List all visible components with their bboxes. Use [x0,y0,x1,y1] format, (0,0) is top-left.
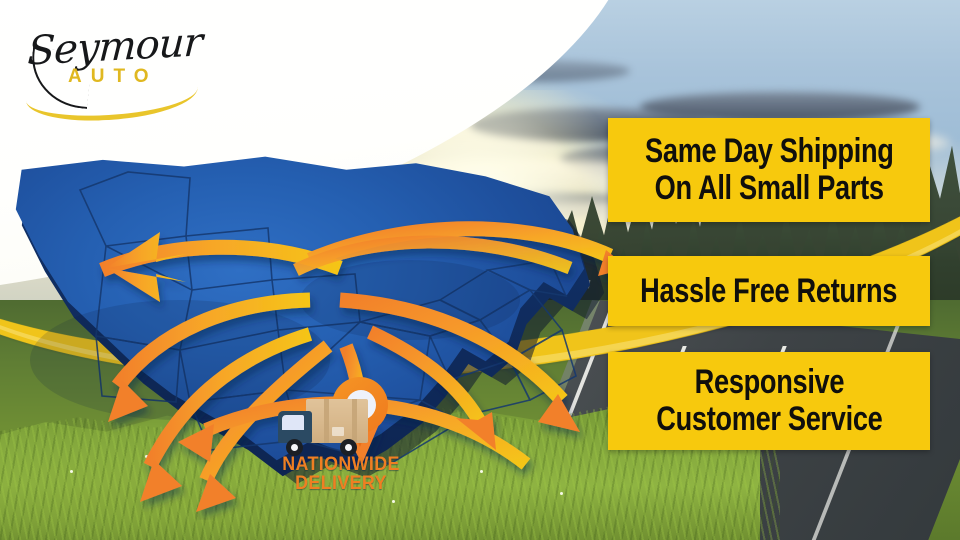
callout-same-day-shipping[interactable]: Same Day Shipping On All Small Parts [608,118,930,222]
delivery-icon-group: NATIONWIDE DELIVERY [270,375,410,505]
box-tape [352,399,357,443]
nationwide-line-1: NATIONWIDE [272,455,409,474]
truck-window [282,415,304,430]
callout-line: Customer Service [656,401,882,438]
callout-line: Same Day Shipping [645,133,893,170]
box-shipping-label [332,427,344,436]
callout-hassle-free-returns[interactable]: Hassle Free Returns [608,256,930,326]
callout-line: Hassle Free Returns [641,273,898,310]
callout-line: On All Small Parts [654,170,883,207]
nationwide-line-2: DELIVERY [272,474,409,493]
promo-banner: Seymour AUTO [0,0,960,540]
us-map-graphic: NATIONWIDE DELIVERY [10,150,630,520]
box-tape [324,399,329,443]
brand-logo[interactable]: Seymour AUTO [20,18,210,98]
nationwide-delivery-label: NATIONWIDE DELIVERY [268,455,414,494]
delivery-truck-icon [278,397,376,457]
truck-cargo-box [306,399,368,443]
callout-line: Responsive [694,364,843,401]
brand-subtitle: AUTO [68,66,157,88]
callout-responsive-customer-service[interactable]: Responsive Customer Service [608,352,930,450]
